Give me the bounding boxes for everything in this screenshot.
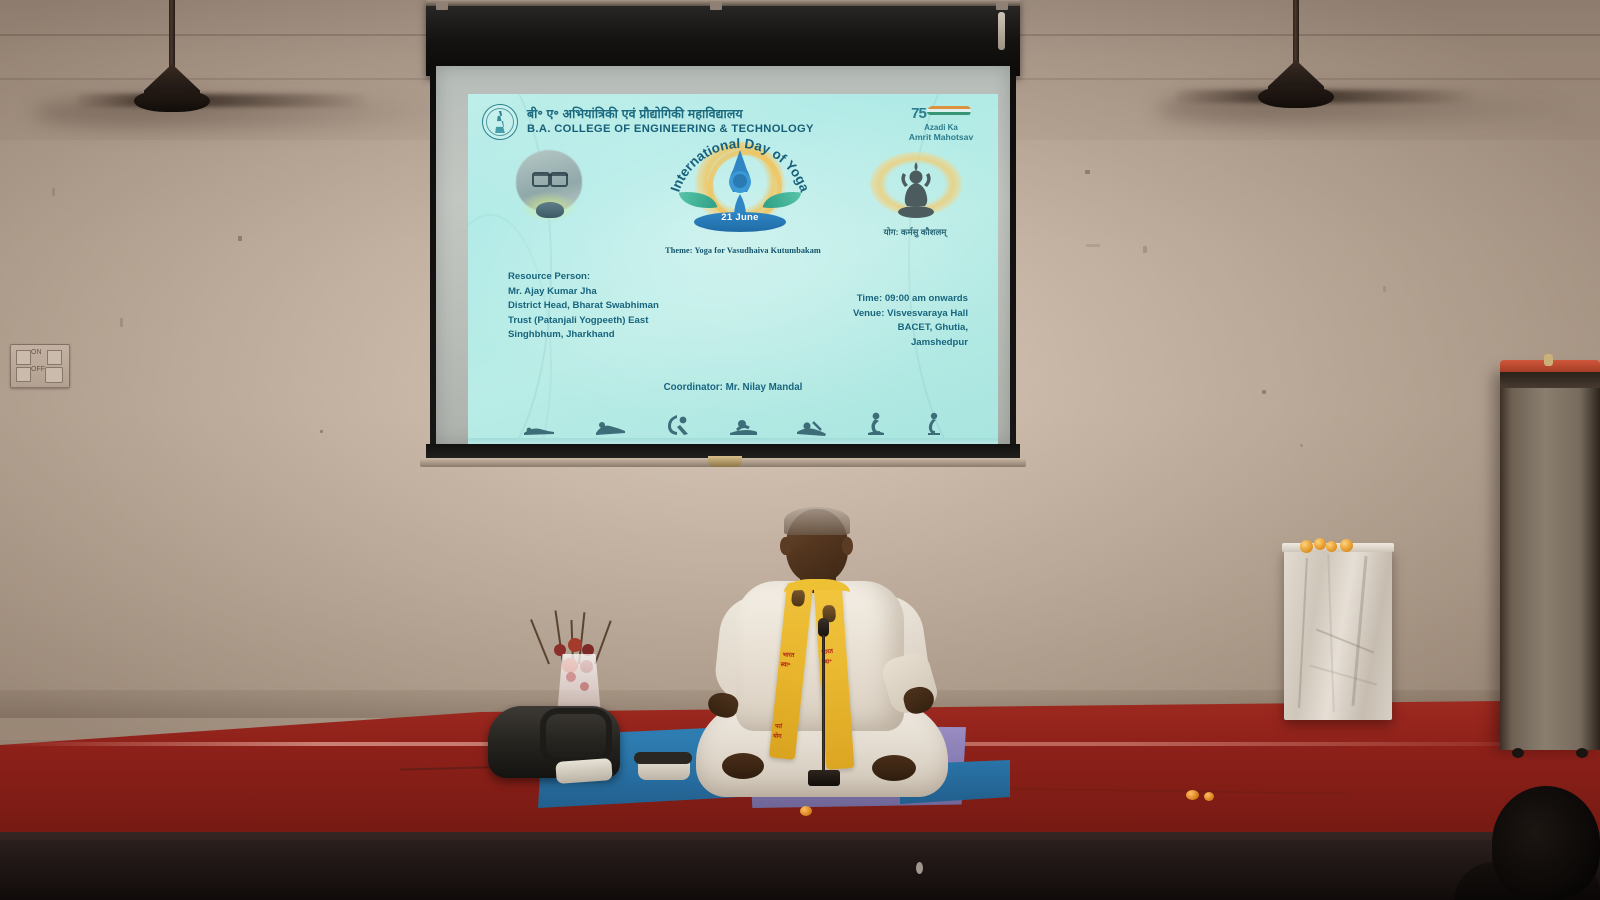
yoga-pose-icon-3 xyxy=(665,414,691,436)
yoga-silhouette-icon xyxy=(896,160,936,222)
idy-date-label: 21 June xyxy=(664,212,816,223)
foreground-person-head xyxy=(1492,786,1600,900)
draped-podium xyxy=(1284,548,1392,720)
screen-surface: बी॰ ए॰ अभियांत्रिकी एवं प्रौद्योगिकी महा… xyxy=(436,66,1010,444)
yoga-pose-strip xyxy=(522,410,942,436)
resource-line-4: Singhbhum, Jharkhand xyxy=(508,328,659,343)
wooden-cabinet xyxy=(1500,372,1600,750)
yoga-pose-icon-6 xyxy=(865,412,887,436)
white-cloth-left xyxy=(555,758,612,784)
white-cloth-right xyxy=(638,756,690,780)
resource-line-1: Mr. Ajay Kumar Jha xyxy=(508,285,659,300)
marigold-1 xyxy=(1300,540,1313,553)
resource-line-3: Trust (Patanjali Yogpeeth) East xyxy=(508,314,659,329)
floor-flower-1 xyxy=(800,806,812,816)
resource-person-portrait xyxy=(506,150,592,224)
event-details-block: Time: 09:00 am onwards Venue: Visvesvara… xyxy=(853,292,968,350)
resource-line-0: Resource Person: xyxy=(508,270,659,285)
screen-pull-handle[interactable] xyxy=(708,456,742,467)
details-line-2: BACET, Ghutia, xyxy=(853,321,968,336)
yoga-pose-icon-1 xyxy=(522,420,556,436)
table-microphone xyxy=(806,618,840,786)
yoga-pose-icon-2 xyxy=(593,418,627,436)
details-line-0: Time: 09:00 am onwards xyxy=(853,292,968,307)
sanskrit-motto-label: योग: कर्मसु कौशलम् xyxy=(850,226,980,238)
yoga-pose-icon-4 xyxy=(728,418,758,436)
hall-floor xyxy=(0,840,1600,900)
switch-label-on: ON xyxy=(31,349,42,356)
ceiling-fan-right xyxy=(1216,0,1376,120)
wall-switch-plate[interactable]: ON OFF xyxy=(10,344,70,388)
projector-screen[interactable]: बी॰ ए॰ अभियांत्रिकी एवं प्रौद्योगिकी महा… xyxy=(426,0,1020,466)
screen-cord[interactable] xyxy=(998,12,1005,50)
marigold-3 xyxy=(1326,541,1337,552)
switch-label-off: OFF xyxy=(31,366,45,373)
yoga-motto-emblem xyxy=(868,148,964,232)
coordinator-label: Coordinator: Mr. Nilay Mandal xyxy=(468,382,998,393)
yoga-pose-icon-7 xyxy=(924,412,942,436)
yoga-pose-icon-5 xyxy=(795,418,827,436)
details-line-3: Jamshedpur xyxy=(853,336,968,351)
amrit-75-label: 75 xyxy=(911,105,926,122)
photo-scene: ON OFF बी॰ ए॰ अभियांत्रिकी एव xyxy=(0,0,1600,900)
marigold-2 xyxy=(1314,538,1326,550)
amrit-mahotsav-logo: 75 Azadi Ka Amrit Mahotsav xyxy=(900,106,982,142)
tricolor-flourish-icon xyxy=(926,106,972,115)
ceiling-fan-left xyxy=(92,0,252,124)
resource-line-2: District Head, Bharat Swabhiman xyxy=(508,299,659,314)
floor-debris xyxy=(916,862,923,874)
idy-theme-label: Theme: Yoga for Vasudhaiva Kutumbakam xyxy=(618,246,868,255)
amrit-line1: Azadi Ka xyxy=(900,124,982,132)
floor-flower-2 xyxy=(1186,790,1199,800)
details-line-1: Venue: Visvesvaraya Hall xyxy=(853,307,968,322)
amrit-line2: Amrit Mahotsav xyxy=(900,133,982,142)
resource-person-block: Resource Person: Mr. Ajay Kumar Jha Dist… xyxy=(508,270,659,343)
projected-slide: बी॰ ए॰ अभियांत्रिकी एवं प्रौद्योगिकी महा… xyxy=(468,94,998,448)
idy-emblem: International Day of Yoga 21 June xyxy=(664,116,816,246)
marigold-4 xyxy=(1340,539,1353,552)
floor-flower-3 xyxy=(1204,792,1214,801)
college-seal-icon xyxy=(482,104,518,140)
